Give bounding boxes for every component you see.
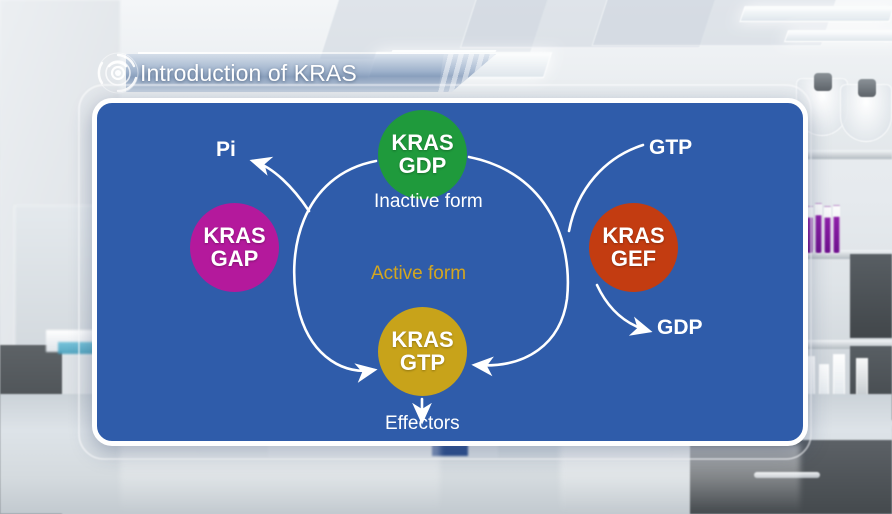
node-kras-gtp-line2: GTP — [400, 352, 445, 375]
label-active-form: Active form — [371, 263, 466, 285]
node-kras-gef-line2: GEF — [611, 248, 656, 271]
title-accent-line — [138, 52, 470, 54]
label-gtp-input: GTP — [649, 136, 692, 160]
ceiling-light — [739, 6, 892, 22]
ceiling-light — [784, 30, 892, 42]
node-kras-gtp[interactable]: KRAS GTP — [378, 307, 467, 396]
label-gdp-output: GDP — [657, 316, 703, 340]
node-kras-gef[interactable]: KRAS GEF — [589, 203, 678, 292]
node-kras-gdp-line1: KRAS — [391, 132, 453, 155]
node-kras-gap-line1: KRAS — [203, 225, 265, 248]
kras-cycle-panel: KRAS GDP KRAS GTP KRAS GAP KRAS GEF Inac… — [92, 98, 808, 446]
node-kras-gef-line1: KRAS — [602, 225, 664, 248]
node-kras-gdp[interactable]: KRAS GDP — [378, 110, 467, 199]
fume-hood-lamp — [840, 84, 892, 142]
node-kras-gap[interactable]: KRAS GAP — [190, 203, 279, 292]
label-inactive-form: Inactive form — [374, 191, 483, 213]
title-accent-line-diagonal — [391, 50, 496, 52]
label-effectors: Effectors — [385, 413, 460, 435]
node-kras-gap-line2: GAP — [211, 248, 259, 271]
node-kras-gdp-line2: GDP — [399, 155, 447, 178]
label-pi: Pi — [216, 138, 236, 162]
node-kras-gtp-line1: KRAS — [391, 329, 453, 352]
